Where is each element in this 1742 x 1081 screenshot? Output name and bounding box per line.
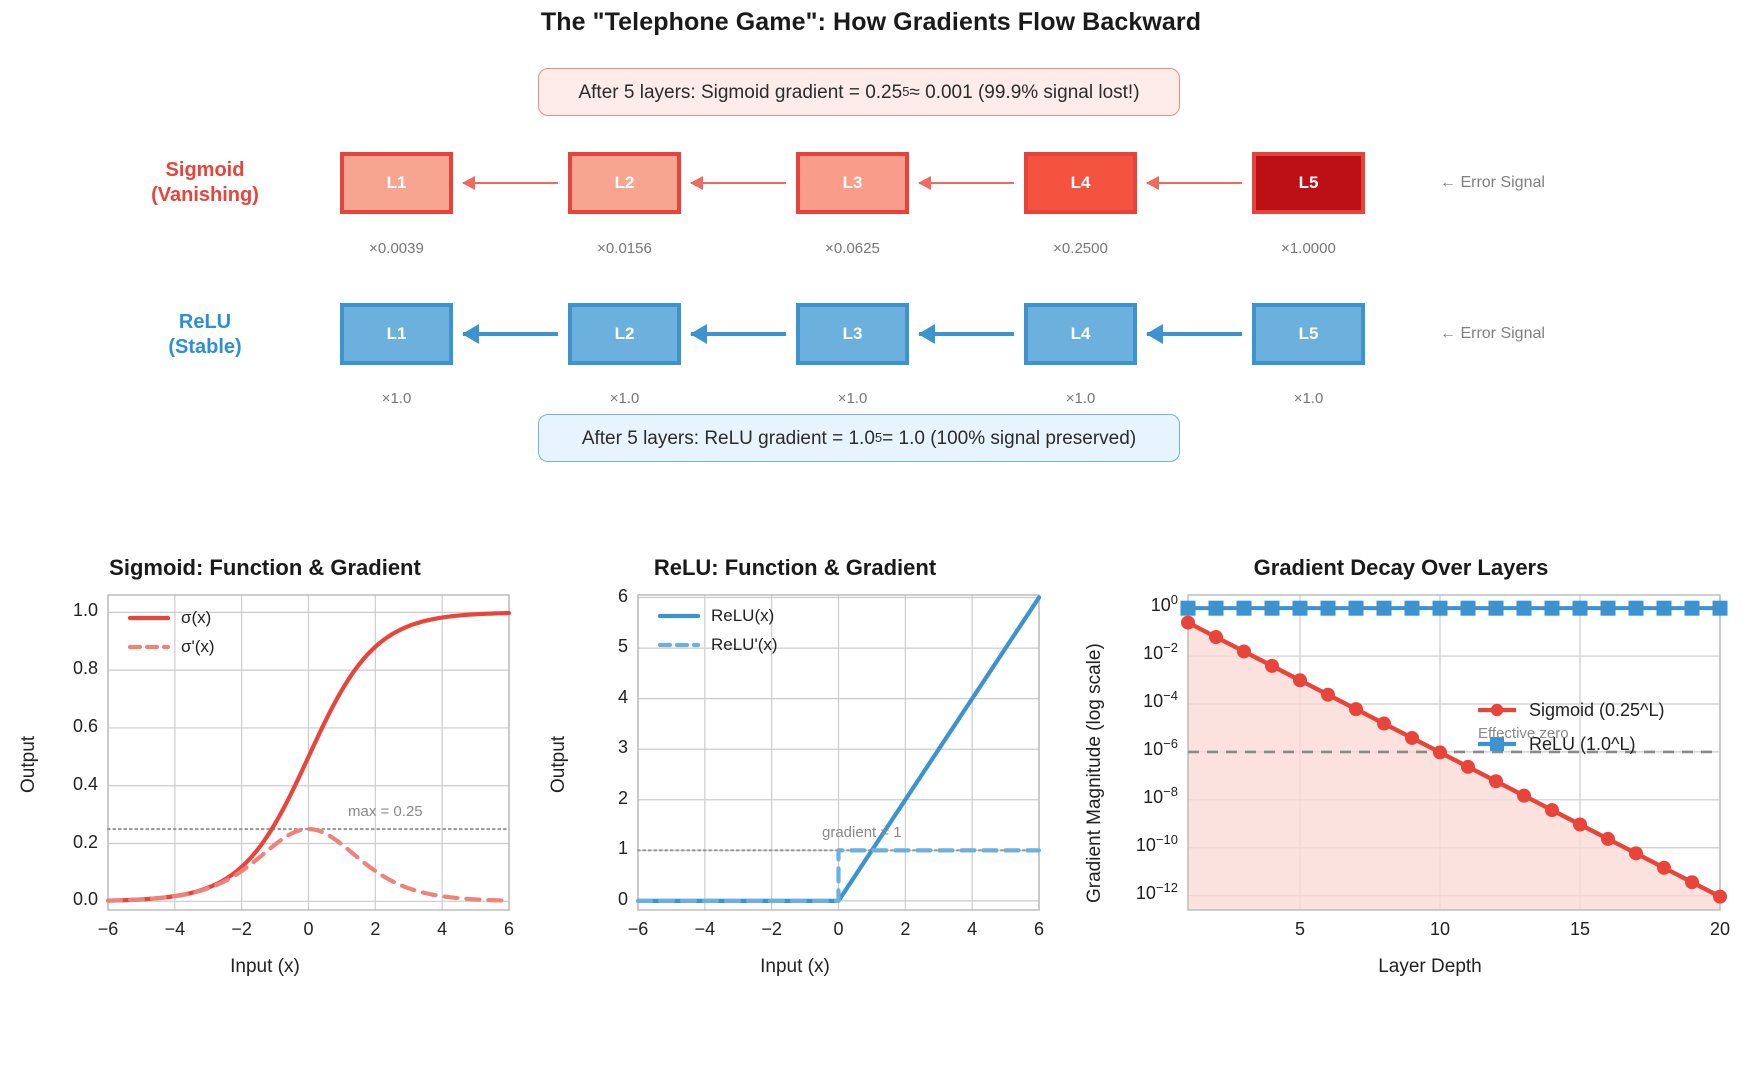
sigmoid-gradient-arrow-4 — [1147, 182, 1242, 184]
x-tick-label: 4 — [412, 919, 472, 940]
layer-box-label: L3 — [843, 324, 863, 344]
arrow-head-icon — [690, 324, 707, 344]
y-tick-label: 5 — [546, 636, 628, 657]
arrow-head-icon — [1146, 176, 1159, 190]
chart-annotation-effective-zero: Effective zero — [1478, 725, 1569, 742]
arrow-shaft — [463, 182, 558, 184]
legend-item: Sigmoid (0.25^L) — [1476, 693, 1665, 727]
y-tick-label: 0.4 — [16, 774, 98, 795]
sigmoid-row-label: Sigmoid (Vanishing) — [110, 158, 300, 208]
sigmoid-layer-box-l1: L1 — [340, 152, 453, 214]
legend-item: σ(x) — [128, 603, 215, 632]
sigmoid-callout-suffix: ≈ 0.001 (99.9% signal lost!) — [909, 83, 1139, 102]
x-tick-label: 20 — [1690, 919, 1742, 940]
x-tick-label: −2 — [742, 919, 802, 940]
sigmoid-gradient-arrow-3 — [919, 182, 1014, 184]
sigmoid-multiplier-l5: ×1.0000 — [1252, 240, 1365, 257]
arrow-head-icon — [918, 176, 931, 190]
x-tick-label: 2 — [875, 919, 935, 940]
y-tick-label: 0.2 — [16, 832, 98, 853]
chart-title-decay: Gradient Decay Over Layers — [1060, 555, 1742, 581]
sigmoid-multiplier-l2: ×0.0156 — [568, 240, 681, 257]
chart-panel-sigmoid: Sigmoid: Function & Gradient Output Inpu… — [0, 545, 530, 1076]
y-tick-label: 0.0 — [16, 889, 98, 910]
legend-item: σ'(x) — [128, 632, 215, 661]
arrow-head-icon — [918, 324, 935, 344]
y-tick-label: 6 — [546, 586, 628, 607]
x-tick-label: −4 — [145, 919, 205, 940]
sigmoid-layer-box-l4: L4 — [1024, 152, 1137, 214]
x-tick-label: 4 — [942, 919, 1002, 940]
sigmoid-multiplier-l1: ×0.0039 — [340, 240, 453, 257]
relu-error-signal-label: ← Error Signal — [1440, 325, 1545, 343]
legend-label: ReLU'(x) — [711, 635, 778, 655]
sigmoid-x-axis-label: Input (x) — [0, 956, 530, 978]
relu-layer-box-l1: L1 — [340, 303, 453, 365]
y-tick-label: 2 — [546, 788, 628, 809]
layer-box-label: L3 — [843, 173, 863, 193]
chart-annotation-max-0-25: max = 0.25 — [348, 803, 423, 820]
y-tick-label: 10−4 — [1080, 691, 1178, 712]
relu-layer-box-l4: L4 — [1024, 303, 1137, 365]
legend-item: ReLU'(x) — [658, 630, 778, 659]
legend-swatch — [128, 638, 170, 656]
legend-label: Sigmoid (0.25^L) — [1529, 700, 1665, 721]
x-tick-label: 0 — [809, 919, 869, 940]
x-tick-label: 10 — [1410, 919, 1470, 940]
sigmoid-error-signal-label: ← Error Signal — [1440, 174, 1545, 192]
sigmoid-gradient-arrow-1 — [463, 182, 558, 184]
sigmoid-gradient-arrow-2 — [691, 182, 786, 184]
relu-gradient-arrow-3 — [919, 332, 1014, 336]
x-tick-label: 0 — [279, 919, 339, 940]
sigmoid-chart-svg — [0, 545, 530, 1076]
sigmoid-multiplier-l3: ×0.0625 — [796, 240, 909, 257]
relu-gradient-arrow-1 — [463, 332, 558, 336]
arrow-head-icon — [462, 324, 479, 344]
y-tick-label: 10−8 — [1080, 787, 1178, 808]
y-tick-label: 1.0 — [16, 600, 98, 621]
relu-summary-callout: After 5 layers: ReLU gradient = 1.05 = 1… — [538, 414, 1180, 462]
chart-title-relu: ReLU: Function & Gradient — [530, 555, 1060, 581]
y-tick-label: 1 — [546, 838, 628, 859]
arrow-head-icon — [1146, 324, 1163, 344]
legend-swatch — [658, 607, 700, 625]
layer-box-label: L1 — [387, 324, 407, 344]
y-tick-label: 3 — [546, 737, 628, 758]
x-tick-label: 5 — [1270, 919, 1330, 940]
chart-annotation-gradient-1: gradient = 1 — [822, 824, 902, 841]
sigmoid-row-label-line1: Sigmoid — [110, 158, 300, 183]
x-tick-label: 2 — [345, 919, 405, 940]
relu-row-label: ReLU (Stable) — [110, 310, 300, 360]
legend-swatch — [128, 609, 170, 627]
x-tick-label: −2 — [212, 919, 272, 940]
y-tick-label: 10−2 — [1080, 643, 1178, 664]
sigmoid-summary-callout: After 5 layers: Sigmoid gradient = 0.255… — [538, 68, 1180, 116]
relu-chart-legend: ReLU(x)ReLU'(x) — [658, 601, 778, 659]
relu-x-axis-label: Input (x) — [530, 956, 1060, 978]
x-tick-label: 15 — [1550, 919, 1610, 940]
layer-box-label: L4 — [1071, 324, 1091, 344]
x-tick-label: −4 — [675, 919, 735, 940]
layer-box-label: L5 — [1299, 324, 1319, 344]
relu-layer-box-l3: L3 — [796, 303, 909, 365]
y-tick-label: 4 — [546, 687, 628, 708]
arrow-head-icon — [462, 176, 475, 190]
relu-row-label-line2: (Stable) — [110, 335, 300, 360]
relu-multiplier-l2: ×1.0 — [568, 390, 681, 407]
legend-item: ReLU(x) — [658, 601, 778, 630]
sigmoid-chart-legend: σ(x)σ'(x) — [128, 603, 215, 661]
sigmoid-row-label-line2: (Vanishing) — [110, 183, 300, 208]
x-tick-label: −6 — [608, 919, 668, 940]
layer-box-label: L2 — [615, 173, 635, 193]
layer-box-label: L2 — [615, 324, 635, 344]
sigmoid-layer-box-l5: L5 — [1252, 152, 1365, 214]
relu-callout-suffix: = 1.0 (100% signal preserved) — [882, 429, 1136, 448]
arrow-shaft — [919, 182, 1014, 184]
chart-panel-relu: ReLU: Function & Gradient Output Input (… — [530, 545, 1060, 1076]
y-tick-label: 0.8 — [16, 658, 98, 679]
chart-title-sigmoid: Sigmoid: Function & Gradient — [0, 555, 530, 581]
x-tick-label: −6 — [78, 919, 138, 940]
y-tick-label: 10−10 — [1080, 835, 1178, 856]
relu-multiplier-l5: ×1.0 — [1252, 390, 1365, 407]
relu-gradient-arrow-2 — [691, 332, 786, 336]
sigmoid-layer-box-l3: L3 — [796, 152, 909, 214]
layer-box-label: L4 — [1071, 173, 1091, 193]
chart-panel-decay: Gradient Decay Over Layers Gradient Magn… — [1060, 545, 1742, 1076]
layer-box-label: L1 — [387, 173, 407, 193]
relu-multiplier-l1: ×1.0 — [340, 390, 453, 407]
relu-chart-svg — [530, 545, 1060, 1076]
legend-label: σ'(x) — [181, 637, 215, 657]
decay-y-axis-label: Gradient Magnitude (log scale) — [1084, 643, 1106, 903]
decay-x-axis-label: Layer Depth — [1120, 956, 1740, 978]
relu-gradient-arrow-4 — [1147, 332, 1242, 336]
y-tick-label: 0.6 — [16, 716, 98, 737]
arrow-head-icon — [690, 176, 703, 190]
legend-label: ReLU(x) — [711, 606, 774, 626]
legend-label: σ(x) — [181, 608, 211, 628]
relu-row-label-line1: ReLU — [110, 310, 300, 335]
layer-box-label: L5 — [1299, 173, 1319, 193]
relu-multiplier-l4: ×1.0 — [1024, 390, 1137, 407]
relu-layer-box-l5: L5 — [1252, 303, 1365, 365]
arrow-shaft — [1147, 182, 1242, 184]
relu-multiplier-l3: ×1.0 — [796, 390, 909, 407]
y-tick-label: 100 — [1080, 595, 1178, 616]
y-tick-label: 10−6 — [1080, 739, 1178, 760]
page-title: The "Telephone Game": How Gradients Flow… — [0, 8, 1742, 37]
legend-swatch — [658, 636, 700, 654]
sigmoid-layer-box-l2: L2 — [568, 152, 681, 214]
relu-layer-box-l2: L2 — [568, 303, 681, 365]
y-tick-label: 10−12 — [1080, 883, 1178, 904]
decay-chart-svg — [1060, 545, 1742, 1076]
arrow-shaft — [691, 182, 786, 184]
relu-callout-prefix: After 5 layers: ReLU gradient = 1.0 — [582, 429, 875, 448]
y-tick-label: 0 — [546, 889, 628, 910]
sigmoid-multiplier-l4: ×0.2500 — [1024, 240, 1137, 257]
legend-swatch — [1476, 701, 1518, 719]
sigmoid-callout-prefix: After 5 layers: Sigmoid gradient = 0.25 — [578, 83, 902, 102]
